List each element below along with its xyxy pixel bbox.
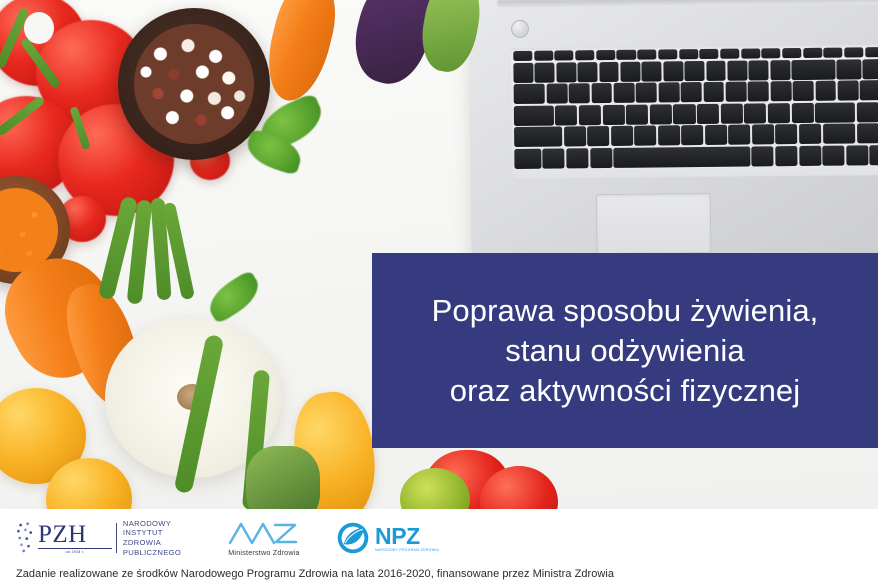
laptop-keyboard	[509, 44, 878, 179]
pzh-name: NARODOWY INSTYTUT ZDROWIA PUBLICZNEGO	[123, 519, 194, 557]
banner-line-1: Poprawa sposobu żywienia,	[432, 291, 819, 331]
zucchini	[246, 446, 320, 509]
banner-line-2: stanu odżywienia	[505, 331, 744, 371]
cutting-board-hole	[24, 12, 54, 44]
logo-npz: NPZ NARODOWY PROGRAM ZDROWIA	[336, 517, 446, 559]
logo-ministerstwo-zdrowia: Ministerstwo Zdrowia	[216, 517, 312, 559]
keyboard-row	[512, 123, 878, 147]
power-button-icon	[511, 20, 529, 38]
keyboard-row	[512, 80, 878, 104]
keyboard-row	[512, 145, 878, 169]
logo-row: PZH od 1918 r. NARODOWY INSTYTUT ZDROWIA…	[14, 517, 446, 559]
mz-monogram-icon	[228, 520, 300, 546]
bowl-of-beans	[118, 8, 270, 160]
title-banner: Poprawa sposobu żywienia, stanu odżywien…	[372, 253, 878, 448]
pzh-name-line-2: ZDROWIA PUBLICZNEGO	[123, 538, 194, 557]
pzh-mark: PZH od 1918 r.	[38, 522, 112, 555]
laptop-image	[469, 0, 878, 260]
mz-name: Ministerstwo Zdrowia	[228, 548, 300, 557]
hero-photo: Poprawa sposobu żywienia, stanu odżywien…	[0, 0, 878, 509]
npz-leaf-swirl-icon	[336, 521, 370, 555]
pzh-rule	[38, 548, 112, 549]
pzh-since: od 1918 r.	[38, 550, 112, 554]
pzh-name-line-1: NARODOWY INSTYTUT	[123, 519, 194, 538]
npz-letters: NPZ	[375, 525, 439, 547]
logo-pzh: PZH od 1918 r. NARODOWY INSTYTUT ZDROWIA…	[14, 518, 194, 558]
footer: PZH od 1918 r. NARODOWY INSTYTUT ZDROWIA…	[0, 509, 878, 586]
pzh-letters: PZH	[38, 522, 112, 547]
funding-caption: Zadanie realizowane ze środków Narodoweg…	[16, 567, 614, 581]
pzh-divider	[116, 523, 117, 553]
laptop-hinge	[497, 0, 878, 8]
keyboard-row	[512, 101, 878, 125]
molecule-dots-icon	[14, 521, 36, 555]
keyboard-row	[511, 58, 878, 82]
npz-text: NPZ NARODOWY PROGRAM ZDROWIA	[375, 525, 439, 552]
beans	[134, 24, 254, 144]
npz-subtitle: NARODOWY PROGRAM ZDROWIA	[375, 548, 439, 552]
poster: Poprawa sposobu żywienia, stanu odżywien…	[0, 0, 878, 586]
banner-line-3: oraz aktywności fizycznej	[450, 371, 801, 411]
